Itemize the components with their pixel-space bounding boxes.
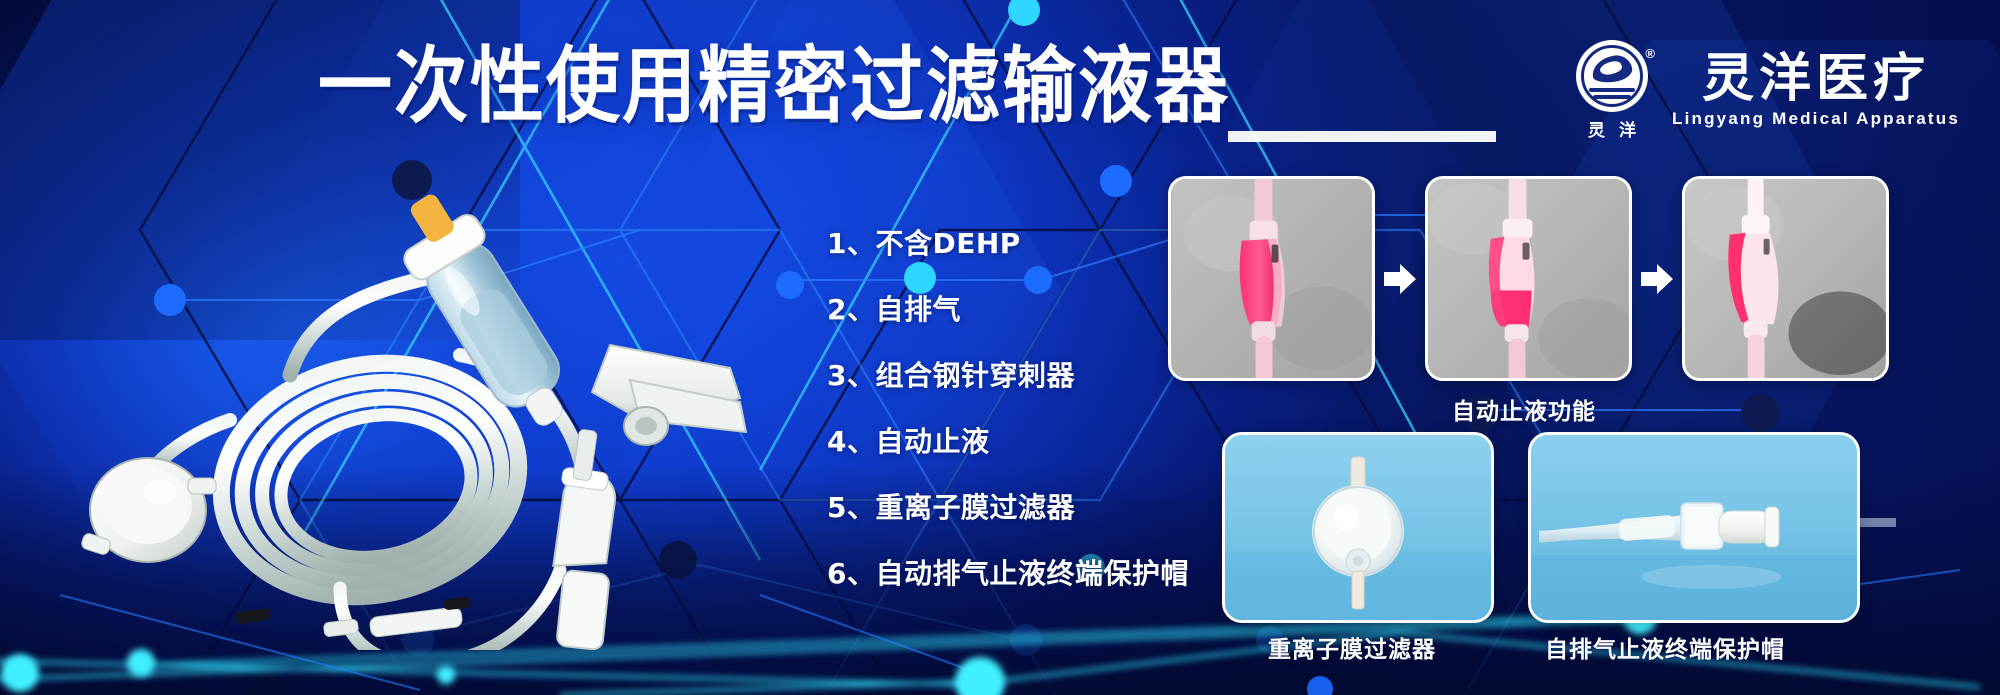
thumbnail-drip-full[interactable] bbox=[1168, 176, 1375, 381]
feature-item: 5、重离子膜过滤器 bbox=[827, 486, 1189, 526]
panel-protective-cap[interactable] bbox=[1528, 432, 1860, 623]
feature-list: 1、不含DEHP 2、自排气 3、组合钢针穿刺器 4、自动止液 5、重离子膜过滤… bbox=[827, 222, 1189, 592]
brand-name-cn: 灵洋医疗 bbox=[1702, 52, 1930, 107]
feature-item: 2、自排气 bbox=[827, 288, 1189, 328]
feature-item: 3、组合钢针穿刺器 bbox=[827, 354, 1189, 394]
auto-stop-sequence bbox=[1168, 176, 1889, 381]
filter-disc bbox=[80, 458, 216, 562]
feature-item: 4、自动止液 bbox=[827, 420, 1189, 460]
page-title: 一次性使用精密过滤输液器 bbox=[318, 45, 1230, 128]
logo-emblem-icon: ® bbox=[1576, 40, 1648, 112]
chevron-right-icon bbox=[1380, 259, 1420, 299]
feature-item: 6、自动排气止液终端保护帽 bbox=[827, 552, 1189, 592]
panel-ion-filter[interactable] bbox=[1222, 432, 1494, 623]
product-image bbox=[40, 180, 800, 650]
needle-assembly bbox=[553, 429, 618, 650]
panel-caption-protective-cap: 自排气止液终端保护帽 bbox=[1545, 630, 1785, 664]
brand-logo: ® 灵洋 灵洋医疗 Lingyang Medical Apparatus bbox=[1574, 40, 1960, 141]
thumbnail-drip-half[interactable] bbox=[1425, 176, 1632, 381]
brand-name-en: Lingyang Medical Apparatus bbox=[1672, 109, 1960, 129]
thumbnail-drip-empty[interactable] bbox=[1682, 176, 1889, 381]
brand-name-block: 灵洋医疗 Lingyang Medical Apparatus bbox=[1672, 52, 1960, 129]
logo-mark-label: 灵洋 bbox=[1574, 116, 1650, 141]
panel-caption-ion-filter: 重离子膜过滤器 bbox=[1268, 630, 1436, 664]
auto-stop-caption: 自动止液功能 bbox=[1452, 392, 1596, 426]
sequence-arrow-1 bbox=[1375, 259, 1425, 299]
chevron-right-icon bbox=[1637, 259, 1677, 299]
roller-clamp bbox=[592, 345, 746, 445]
registered-trademark-icon: ® bbox=[1645, 46, 1655, 61]
feature-item: 1、不含DEHP bbox=[827, 222, 1189, 262]
product-banner: 一次性使用精密过滤输液器 ® 灵洋 灵洋医疗 Lingyang Medical … bbox=[0, 0, 2000, 695]
sequence-arrow-2 bbox=[1632, 259, 1682, 299]
logo-mark: ® 灵洋 bbox=[1574, 40, 1650, 141]
